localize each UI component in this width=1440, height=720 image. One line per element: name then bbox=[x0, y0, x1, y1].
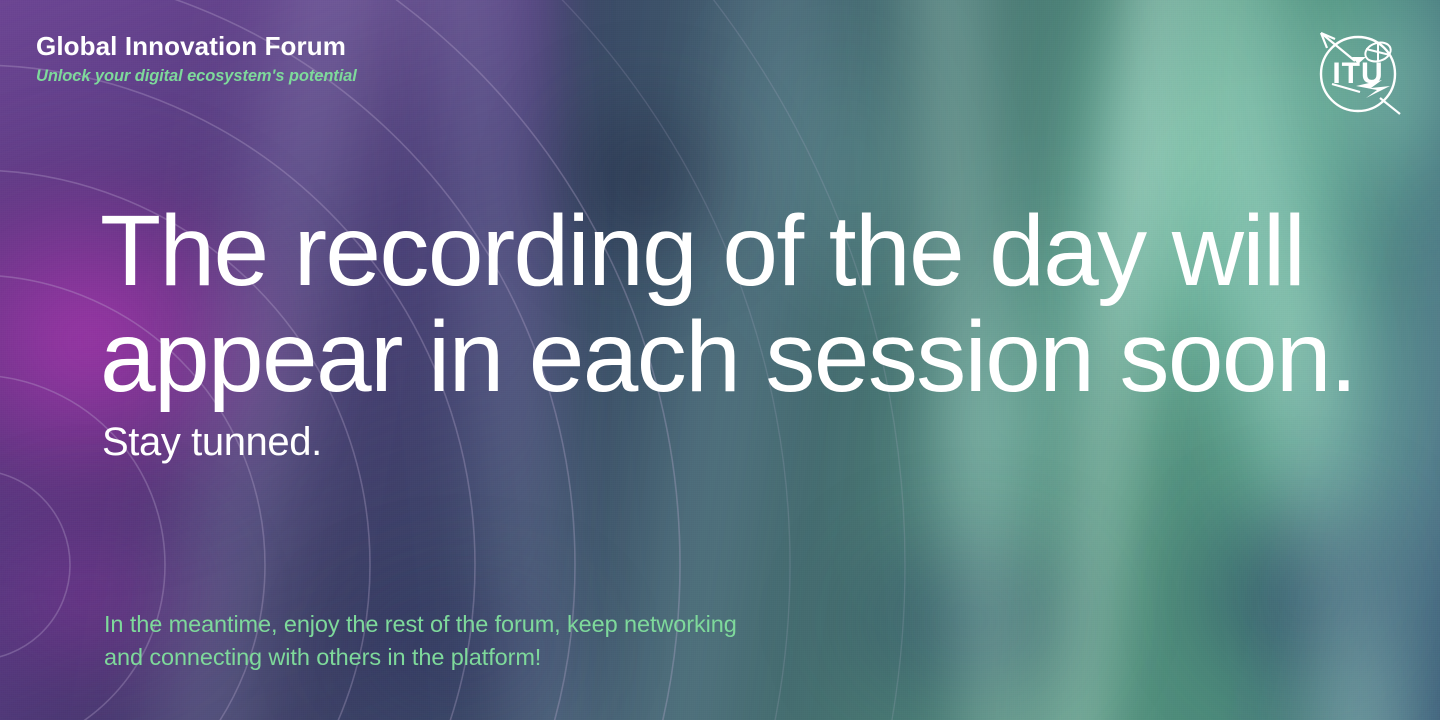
body-note-line-2: and connecting with others in the platfo… bbox=[104, 641, 737, 674]
brand-title: Global Innovation Forum bbox=[36, 32, 357, 62]
itu-logo: ITU bbox=[1308, 24, 1408, 124]
brand-tagline: Unlock your digital ecosystem's potentia… bbox=[36, 67, 357, 86]
slide-content: Global Innovation Forum Unlock your digi… bbox=[0, 0, 1440, 720]
itu-logo-text: ITU bbox=[1332, 57, 1383, 90]
page-title: The recording of the day will appear in … bbox=[100, 198, 1340, 410]
page-title-line-2: appear in each session soon. bbox=[100, 304, 1340, 410]
slide-canvas: Global Innovation Forum Unlock your digi… bbox=[0, 0, 1440, 720]
page-subtitle: Stay tunned. bbox=[102, 420, 322, 465]
body-note-line-1: In the meantime, enjoy the rest of the f… bbox=[104, 608, 737, 641]
brand-block: Global Innovation Forum Unlock your digi… bbox=[36, 32, 357, 86]
page-title-line-1: The recording of the day will bbox=[100, 198, 1340, 304]
body-note: In the meantime, enjoy the rest of the f… bbox=[104, 608, 737, 674]
